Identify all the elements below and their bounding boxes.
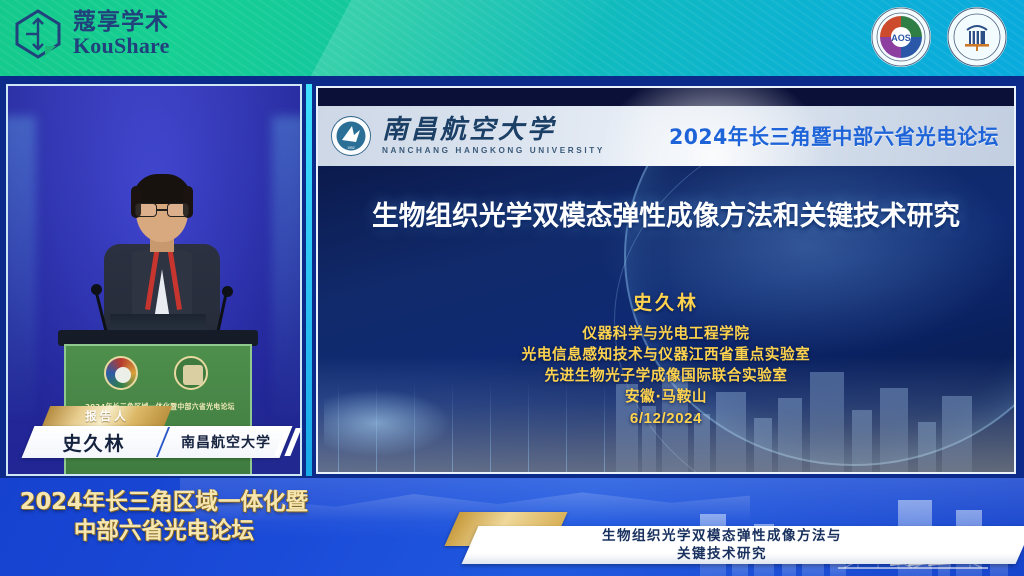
koushare-hexagon-logo bbox=[12, 8, 64, 60]
page-header: 蔻享学术 KouShare AOS bbox=[0, 0, 1024, 76]
presentation-slide[interactable]: 1952 南昌航空大学 NANCHANG HANGKONG UNIVERSITY… bbox=[316, 86, 1016, 474]
event-title-line-2: 中部六省光电论坛 bbox=[17, 517, 311, 546]
glasses-lens-left bbox=[135, 203, 157, 217]
speaker-organization: 南昌航空大学 bbox=[166, 432, 286, 452]
brand-name-en: KouShare bbox=[73, 35, 170, 57]
speaker-glasses bbox=[135, 203, 189, 217]
podium-ahut-seal-icon bbox=[174, 356, 208, 390]
podium-aos-seal-icon bbox=[104, 356, 138, 390]
koushare-brand[interactable]: 蔻享学术 KouShare bbox=[12, 8, 170, 60]
microphone-head-right bbox=[222, 286, 233, 297]
slide-presenter-block: 史久林 仪器科学与光电工程学院 光电信息感知技术与仪器江西省重点实验室 先进生物… bbox=[318, 288, 1014, 427]
slide-affiliation-3: 先进生物光子学成像国际联合实验室 bbox=[318, 365, 1014, 386]
speaker-role-label: 报告人 bbox=[46, 406, 168, 427]
glasses-lens-right bbox=[167, 203, 189, 217]
slide-location: 安徽·马鞍山 bbox=[318, 386, 1014, 407]
svg-text:1952: 1952 bbox=[347, 146, 355, 150]
slide-date: 6/12/2024 bbox=[318, 410, 1014, 427]
slide-affiliation-1: 仪器科学与光电工程学院 bbox=[318, 323, 1014, 344]
slide-forum-tag: 2024年长三角暨中部六省光电论坛 bbox=[669, 121, 999, 151]
speaker-nameplate-body: 史久林 南昌航空大学 bbox=[22, 426, 293, 458]
event-title: 2024年长三角区域一体化暨 中部六省光电论坛 bbox=[17, 488, 311, 547]
ahut-seal-icon bbox=[946, 6, 1008, 68]
slide-affiliation-2: 光电信息感知技术与仪器江西省重点实验室 bbox=[318, 344, 1014, 365]
slide-university-block: 南昌航空大学 NANCHANG HANGKONG UNIVERSITY bbox=[382, 117, 605, 155]
talk-title: 生物组织光学双模态弹性成像方法与 关键技术研究 bbox=[502, 526, 942, 564]
svg-text:AOS: AOS bbox=[891, 33, 911, 43]
slide-university-name-cn: 南昌航空大学 bbox=[382, 117, 605, 143]
microphone-head-left bbox=[91, 284, 102, 295]
glasses-bridge bbox=[157, 209, 167, 211]
stage-light-left bbox=[6, 116, 36, 416]
panel-divider bbox=[306, 84, 312, 476]
event-title-line-1: 2024年长三角区域一体化暨 bbox=[17, 488, 311, 517]
speaker-role-tab: 报告人 bbox=[42, 406, 172, 427]
speaker-name: 史久林 bbox=[28, 429, 160, 456]
stage-light-right bbox=[272, 116, 302, 416]
talk-title-ribbon: 生物组织光学双模态弹性成像方法与 关键技术研究 bbox=[452, 512, 1024, 568]
sponsor-logos: AOS bbox=[870, 6, 1008, 68]
screenshot-root: 蔻享学术 KouShare AOS bbox=[0, 0, 1024, 576]
slide-presenter-name: 史久林 bbox=[318, 288, 1014, 315]
slide-header-bar: 1952 南昌航空大学 NANCHANG HANGKONG UNIVERSITY… bbox=[318, 106, 1014, 166]
nanchang-hangkong-seal-icon: 1952 bbox=[330, 115, 372, 157]
talk-title-line-1: 生物组织光学双模态弹性成像方法与 bbox=[602, 527, 842, 545]
speaker-nameplate: 报告人 史久林 南昌航空大学 bbox=[24, 406, 304, 468]
slide-university-name-en: NANCHANG HANGKONG UNIVERSITY bbox=[382, 146, 605, 155]
aos-seal-icon: AOS bbox=[870, 6, 932, 68]
talk-title-line-2: 关键技术研究 bbox=[677, 545, 767, 563]
slide-main-title: 生物组织光学双模态弹性成像方法和关键技术研究 bbox=[321, 194, 1010, 233]
brand-name-cn: 蔻享学术 bbox=[73, 11, 170, 34]
brand-text: 蔻享学术 KouShare bbox=[73, 11, 170, 58]
